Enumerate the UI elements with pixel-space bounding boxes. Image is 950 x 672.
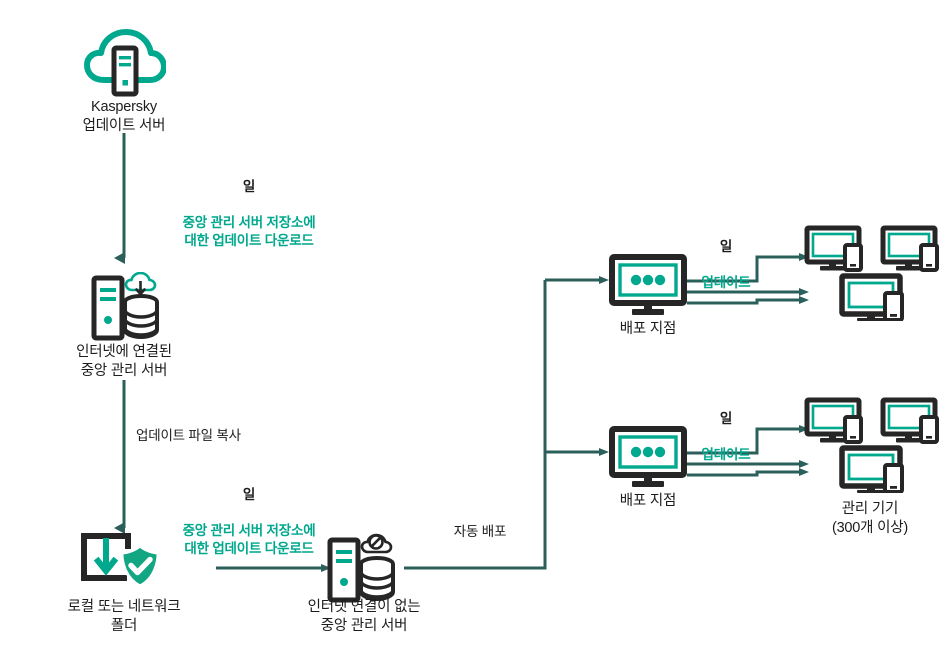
edge-label-body: 업데이트 [671, 274, 781, 292]
device-monitor-phone-c [842, 276, 902, 321]
kaspersky-update-server-label: Kaspersky 업데이트 서버 [24, 98, 224, 136]
device-monitor-phone-a [807, 400, 861, 443]
managed-devices-label: 관리 기기 (300개 이상) [790, 500, 950, 538]
node-label-managed-devices: 관리 기기 (300개 이상) [790, 500, 950, 538]
edge-label-text: 업데이트 파일 복사 [136, 428, 241, 443]
edge-label-download-to-online-server: 일 중앙 관리 서버 저장소에 대한 업데이트 다운로드 [134, 160, 364, 268]
edge-label-body: 업데이트 [671, 446, 781, 464]
local-network-folder-label: 로컬 또는 네트워크 폴더 [19, 598, 229, 636]
admin-server-offline-label: 인터넷 연결이 없는 중앙 관리 서버 [268, 598, 460, 636]
monitor-phone-group-icon [804, 397, 948, 498]
node-label-distribution-point-2: 배포 지점 [578, 492, 718, 511]
edge-label-text: 자동 배포 [454, 524, 506, 539]
node-label-admin-server-online: 인터넷에 연결된 중앙 관리 서버 [24, 343, 224, 381]
edge-label-daily-update-top: 일 업데이트 [671, 220, 781, 310]
edge-label-head: 일 [134, 178, 364, 196]
update-distribution-diagram: Kaspersky 업데이트 서버 인터넷에 연결된 중앙 관리 서버 로컬 또… [0, 0, 950, 672]
distribution-point-1-label: 배포 지점 [578, 320, 718, 339]
server-database-cloud-download-icon [88, 272, 166, 349]
edge-label-body: 중앙 관리 서버 저장소에 대한 업데이트 다운로드 [134, 522, 364, 558]
edge-label-download-to-offline-server: 일 중앙 관리 서버 저장소에 대한 업데이트 다운로드 [134, 468, 364, 576]
edge-label-head: 일 [671, 238, 781, 256]
edge-label-automatic-distribution: 자동 배포 [420, 505, 540, 541]
edge-label-head: 일 [134, 486, 364, 504]
device-monitor-phone-c [842, 448, 902, 493]
node-label-local-network-folder: 로컬 또는 네트워크 폴더 [19, 598, 229, 636]
node-label-admin-server-offline: 인터넷 연결이 없는 중앙 관리 서버 [268, 598, 460, 636]
device-monitor-phone-b [883, 228, 937, 271]
edge-label-copy-update-files: 업데이트 파일 복사 [136, 409, 326, 445]
monitor-phone-group-icon [804, 225, 948, 326]
admin-server-online-label: 인터넷에 연결된 중앙 관리 서버 [24, 343, 224, 381]
cloud-server-icon [84, 26, 166, 103]
node-label-distribution-point-1: 배포 지점 [578, 320, 718, 339]
edge-label-daily-update-bottom: 일 업데이트 [671, 392, 781, 482]
device-monitor-phone-a [807, 228, 861, 271]
node-label-kaspersky-update-server: Kaspersky 업데이트 서버 [24, 98, 224, 136]
edge-label-body: 중앙 관리 서버 저장소에 대한 업데이트 다운로드 [134, 214, 364, 250]
edge-label-head: 일 [671, 410, 781, 428]
distribution-point-2-label: 배포 지점 [578, 492, 718, 511]
device-monitor-phone-b [883, 400, 937, 443]
